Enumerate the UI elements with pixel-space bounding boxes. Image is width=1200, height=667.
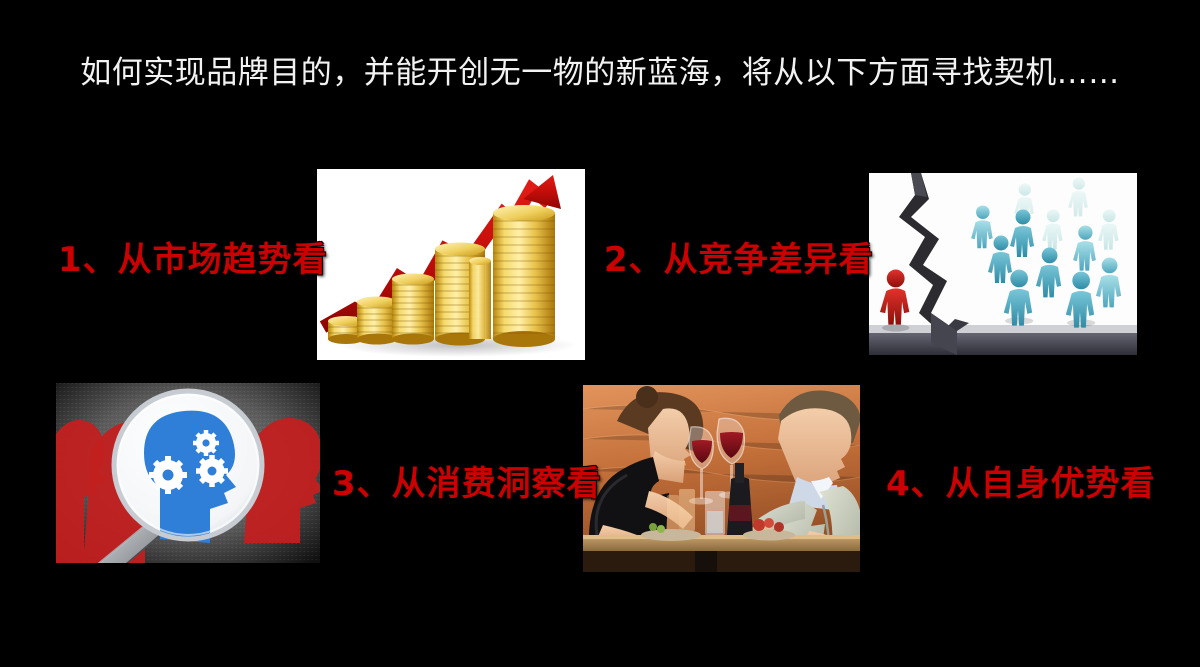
section-label-consumer-insight: 3、从消费洞察看	[332, 464, 602, 504]
image-own-strength	[583, 385, 860, 572]
coin-stack-4	[435, 243, 491, 346]
image-competition-gap	[869, 173, 1137, 355]
coin-stack-5	[493, 205, 555, 347]
magnifier-lens	[114, 391, 262, 543]
section-label-own-strength: 4、从自身优势看	[886, 464, 1156, 504]
coin-stack-2	[357, 297, 397, 345]
table	[583, 535, 860, 572]
image-market-trend	[317, 169, 585, 360]
image-consumer-insight	[56, 383, 320, 563]
coin-stack-3	[392, 274, 434, 345]
section-label-market-trend: 1、从市场趋势看	[58, 240, 328, 280]
section-label-competition-gap: 2、从竞争差异看	[604, 240, 874, 280]
presentation-slide: 如何实现品牌目的，并能开创无一物的新蓝海，将从以下方面寻找契机……	[0, 0, 1200, 667]
slide-title: 如何实现品牌目的，并能开创无一物的新蓝海，将从以下方面寻找契机……	[0, 52, 1200, 94]
